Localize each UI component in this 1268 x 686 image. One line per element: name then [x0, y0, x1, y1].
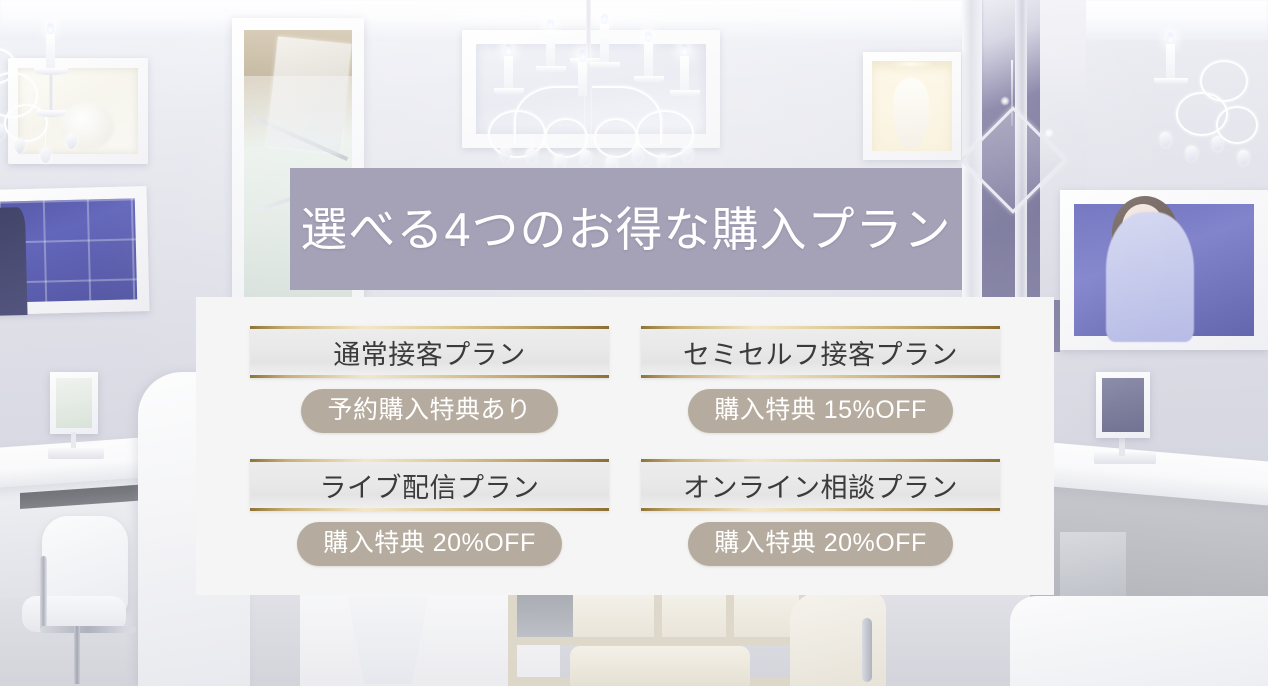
chandelier-candle [680, 56, 689, 94]
crystal-chain [45, 126, 46, 146]
mirror-stand [1119, 436, 1125, 456]
niche-spotlight [889, 60, 935, 68]
plan-card-semi-self[interactable]: セミセルフ接客プラン 購入特典 15%OFF [641, 326, 1000, 433]
crystal-drop [66, 134, 77, 149]
chair-chrome-base [40, 626, 136, 633]
tabletop-mirror-right [1096, 372, 1150, 438]
framed-picture-blue-left [0, 186, 150, 315]
chair-chrome-arm [40, 556, 47, 632]
chandelier-bobeche [590, 62, 620, 69]
chair-chrome-arm [862, 618, 872, 682]
plan-card-live-streaming[interactable]: ライブ配信プラン 購入特典 20%OFF [250, 459, 609, 566]
crystal-drop [580, 150, 591, 165]
person-body [1106, 212, 1194, 342]
chandelier-flame [547, 18, 554, 30]
plan-name-header: セミセルフ接客プラン [641, 326, 1000, 378]
chandelier-flame [645, 30, 652, 42]
plan-name-header: ライブ配信プラン [250, 459, 609, 511]
crystal-drop [682, 146, 693, 161]
sparkle-icon [1000, 96, 1010, 106]
chandelier-candle [644, 42, 653, 80]
chandelier-bobeche [536, 66, 566, 73]
crystal-drop [1238, 150, 1249, 165]
plans-panel: 通常接客プラン 予約購入特典あり セミセルフ接客プラン 購入特典 15%OFF … [196, 297, 1054, 595]
page-title: 選べる4つのお得な購入プラン [300, 206, 951, 253]
chandelier-candle [600, 24, 609, 66]
crystal-drop [0, 124, 5, 139]
crystal-drop [554, 154, 565, 169]
chandelier-flame [601, 12, 608, 24]
chandelier-bobeche [1154, 78, 1188, 85]
chandelier-center [470, 0, 710, 180]
plan-name-header: オンライン相談プラン [641, 459, 1000, 511]
chair-post [74, 626, 80, 684]
crystal-drop [1212, 136, 1223, 151]
chandelier-sconce-left [0, 28, 106, 178]
chandelier-rod [586, 0, 591, 66]
chandelier-rod [49, 74, 53, 114]
mirror-base [1094, 452, 1156, 464]
screenshot-root: 選べる4つのお得な購入プラン 通常接客プラン 予約購入特典あり セミセルフ接客プ… [0, 0, 1268, 686]
crystal-drop [40, 148, 51, 163]
white-sofa-right [1010, 596, 1268, 686]
chandelier-candle [46, 34, 55, 72]
chandelier-candle [578, 62, 587, 96]
vase [893, 78, 929, 148]
sparkle-icon [1044, 128, 1054, 138]
mirror-base [48, 448, 104, 459]
chandelier-bobeche [670, 90, 700, 97]
plan-benefit-badge: 購入特典 20%OFF [297, 522, 561, 566]
chandelier-candle [546, 30, 555, 70]
person-silhouette [0, 207, 28, 316]
chandelier-flame [681, 44, 688, 56]
chandelier-bobeche [494, 88, 524, 95]
crystal-chain [637, 136, 638, 150]
crystal-chain [585, 138, 586, 152]
plan-name: セミセルフ接客プラン [683, 333, 958, 372]
headline-banner: 選べる4つのお得な購入プラン [290, 168, 962, 290]
crystal-drop [526, 148, 537, 163]
crystal-drop [632, 148, 643, 163]
plan-benefit-badge: 購入特典 15%OFF [688, 389, 952, 433]
crystal-drop [658, 154, 669, 169]
plan-card-online-consultation[interactable]: オンライン相談プラン 購入特典 20%OFF [641, 459, 1000, 566]
chandelier-scroll [488, 110, 546, 158]
crystal-drop [14, 138, 25, 153]
crystal-chain [531, 136, 532, 150]
plan-grid: 通常接客プラン 予約購入特典あり セミセルフ接客プラン 購入特典 15%OFF … [250, 326, 1000, 566]
chandelier-flame [1167, 32, 1174, 44]
plan-name: ライブ配信プラン [320, 466, 540, 505]
chandelier-flame [47, 22, 54, 34]
crystal-drop [1186, 146, 1197, 161]
bench-seat-center [570, 646, 750, 686]
plan-benefit-badge: 購入特典 20%OFF [688, 522, 952, 566]
chandelier-sconce-right [1190, 36, 1268, 186]
chandelier-flame [579, 50, 586, 62]
chandelier-flame [505, 44, 512, 56]
framed-picture-woman-right [1060, 190, 1268, 350]
chandelier-bobeche [634, 76, 664, 83]
wall-niche-vase [863, 52, 961, 160]
plan-name: オンライン相談プラン [683, 466, 958, 505]
chandelier-bowl [36, 110, 66, 117]
plan-benefit-badge: 予約購入特典あり [301, 389, 557, 433]
chandelier-candle [504, 56, 513, 92]
plan-card-normal[interactable]: 通常接客プラン 予約購入特典あり [250, 326, 609, 433]
plan-name: 通常接客プラン [333, 333, 526, 372]
tabletop-mirror-left [50, 372, 98, 434]
mirror-panel-small [266, 36, 351, 153]
crystal-drop [500, 146, 511, 161]
plan-name-header: 通常接客プラン [250, 326, 609, 378]
